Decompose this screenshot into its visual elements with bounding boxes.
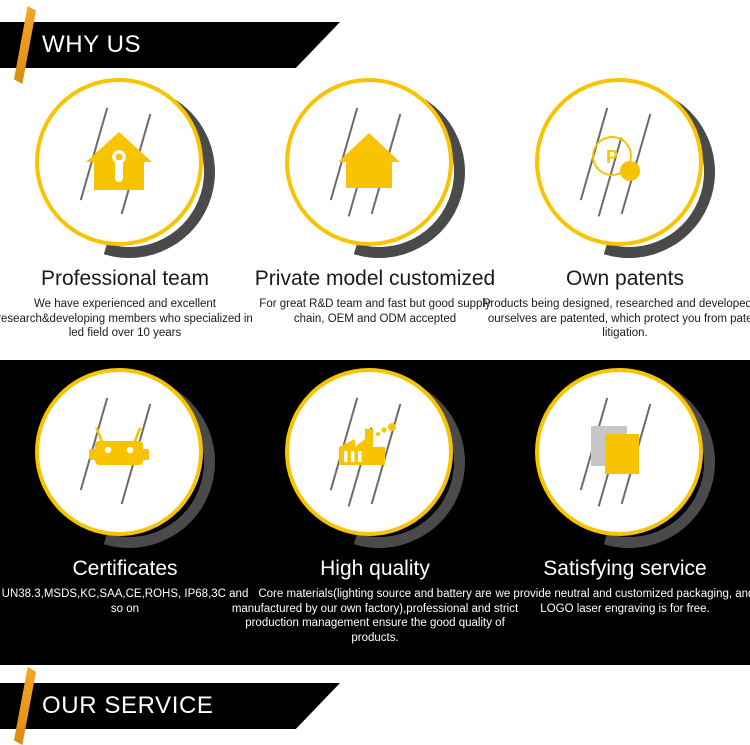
feature-body: We have experienced and excellent resear… — [0, 297, 256, 341]
badge-certificates — [35, 368, 215, 548]
feature-body: we provide neutral and customized packag… — [494, 587, 750, 616]
feature-card-professional-team[interactable]: Professional team We have experienced an… — [0, 78, 250, 353]
factory-icon — [285, 368, 453, 536]
feature-card-satisfying-service[interactable]: Satisfying service we provide neutral an… — [500, 368, 750, 658]
feature-title: High quality — [320, 556, 430, 582]
feature-body: UN38.3,MSDS,KC,SAA,CE,ROHS, IP68,3C and … — [0, 587, 256, 616]
packaging-boxes-icon — [535, 368, 703, 536]
feature-card-certificates[interactable]: Certificates UN38.3,MSDS,KC,SAA,CE,ROHS,… — [0, 368, 250, 658]
house-icon — [285, 78, 453, 246]
feature-card-own-patents[interactable]: P Own patents Products being designed, r… — [500, 78, 750, 353]
badge-private-model — [285, 78, 465, 258]
feature-card-high-quality[interactable]: High quality Core materials(lighting sou… — [250, 368, 500, 658]
feature-title: Own patents — [566, 266, 684, 292]
banner-title-our-service: OUR SERVICE — [42, 683, 214, 729]
feature-body: Core materials(lighting source and batte… — [225, 587, 525, 645]
feature-row-dark: Certificates UN38.3,MSDS,KC,SAA,CE,ROHS,… — [0, 368, 750, 658]
badge-high-quality — [285, 368, 465, 548]
feature-body: For great R&D team and fast but good sup… — [244, 297, 506, 326]
feature-body: Products being designed, researched and … — [475, 297, 750, 341]
feature-row-light: Professional team We have experienced an… — [0, 78, 750, 353]
section-banner-why-us: WHY US — [0, 22, 750, 68]
why-us-page: WHY US Professional team We have exp — [0, 0, 750, 732]
feature-card-private-model[interactable]: Private model customized For great R&D t… — [250, 78, 500, 353]
house-wrench-icon — [35, 78, 203, 246]
banner-title-why-us: WHY US — [42, 22, 141, 68]
feature-title: Satisfying service — [543, 556, 706, 582]
section-banner-our-service: OUR SERVICE — [0, 683, 750, 729]
feature-title: Certificates — [72, 556, 177, 582]
feature-title: Professional team — [41, 266, 209, 292]
badge-professional-team — [35, 78, 215, 258]
robot-head-icon — [35, 368, 203, 536]
svg-text:P: P — [606, 147, 618, 167]
feature-title: Private model customized — [255, 266, 495, 292]
badge-own-patents: P — [535, 78, 715, 258]
patent-p-icon: P — [535, 78, 703, 246]
badge-satisfying-service — [535, 368, 715, 548]
